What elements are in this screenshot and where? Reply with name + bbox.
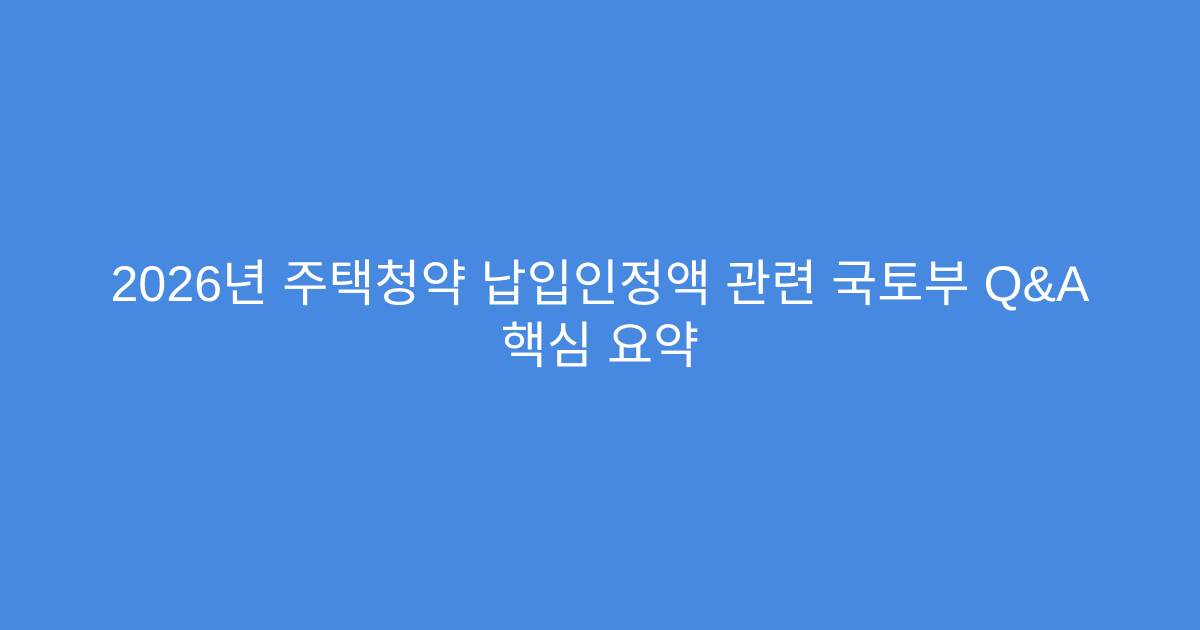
banner-card: 2026년 주택청약 납입인정액 관련 국토부 Q&A 핵심 요약	[0, 0, 1200, 630]
banner-content: 2026년 주택청약 납입인정액 관련 국토부 Q&A 핵심 요약	[95, 253, 1105, 377]
page-title: 2026년 주택청약 납입인정액 관련 국토부 Q&A 핵심 요약	[95, 253, 1105, 377]
